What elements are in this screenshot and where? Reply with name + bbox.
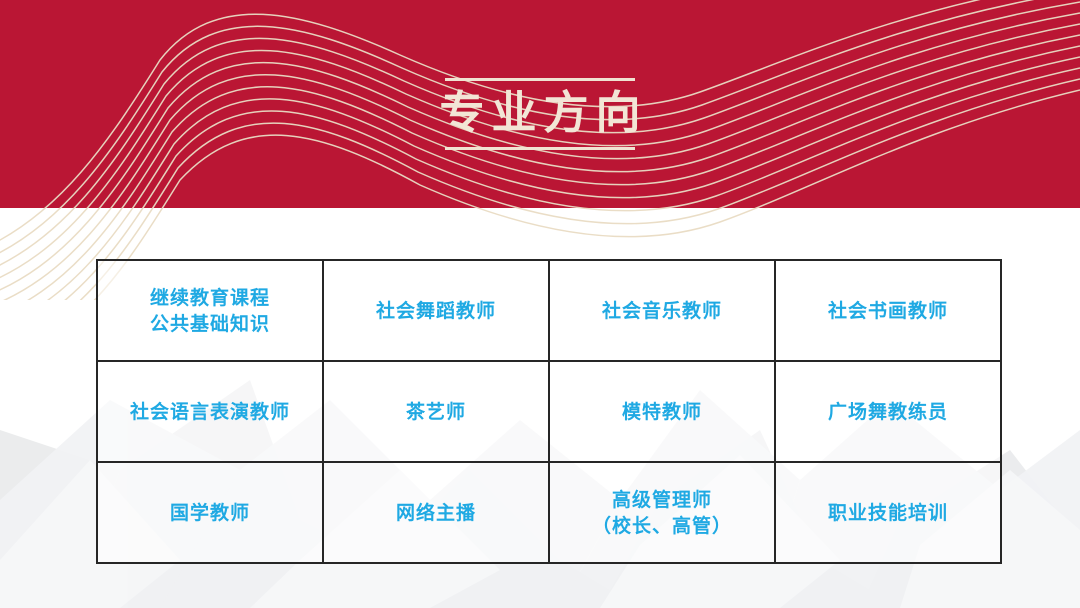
table-body: 继续教育课程 公共基础知识 社会舞蹈教师 社会音乐教师 社会书画教师 社会语言表… <box>97 260 1001 563</box>
title-rule-top <box>445 78 635 81</box>
table-row: 国学教师 网络主播 高级管理师 （校长、高管） 职业技能培训 <box>97 462 1001 563</box>
cell-label: 社会书画教师 <box>776 298 1000 324</box>
cell-label: 社会语言表演教师 <box>98 399 322 425</box>
table-row: 社会语言表演教师 茶艺师 模特教师 广场舞教练员 <box>97 361 1001 462</box>
cell-label: 网络主播 <box>324 500 548 526</box>
cell-label: 高级管理师 （校长、高管） <box>550 487 774 539</box>
cell-label: 职业技能培训 <box>776 500 1000 526</box>
cell-label: 广场舞教练员 <box>776 399 1000 425</box>
table-cell[interactable]: 职业技能培训 <box>775 462 1001 563</box>
specializations-table: 继续教育课程 公共基础知识 社会舞蹈教师 社会音乐教师 社会书画教师 社会语言表… <box>96 259 1002 564</box>
table-cell[interactable]: 社会舞蹈教师 <box>323 260 549 361</box>
table-cell[interactable]: 模特教师 <box>549 361 775 462</box>
slide-title-block: 专业方向 <box>0 78 1080 150</box>
table-cell[interactable]: 高级管理师 （校长、高管） <box>549 462 775 563</box>
slide-canvas: 专业方向 继续教育课程 公共基础知识 社会舞蹈教师 社会音乐教师 社会书画教师 … <box>0 0 1080 608</box>
cell-label: 社会音乐教师 <box>550 298 774 324</box>
table-cell[interactable]: 国学教师 <box>97 462 323 563</box>
cell-label: 社会舞蹈教师 <box>324 298 548 324</box>
cell-label: 茶艺师 <box>324 399 548 425</box>
cell-label: 模特教师 <box>550 399 774 425</box>
table-cell[interactable]: 网络主播 <box>323 462 549 563</box>
table-cell[interactable]: 社会书画教师 <box>775 260 1001 361</box>
cell-label: 继续教育课程 公共基础知识 <box>98 285 322 337</box>
page-title: 专业方向 <box>0 87 1080 139</box>
table-cell[interactable]: 社会音乐教师 <box>549 260 775 361</box>
table-cell[interactable]: 广场舞教练员 <box>775 361 1001 462</box>
table-cell[interactable]: 茶艺师 <box>323 361 549 462</box>
table-row: 继续教育课程 公共基础知识 社会舞蹈教师 社会音乐教师 社会书画教师 <box>97 260 1001 361</box>
title-rule-bottom <box>445 147 635 150</box>
cell-label: 国学教师 <box>98 500 322 526</box>
table-cell[interactable]: 社会语言表演教师 <box>97 361 323 462</box>
table-cell[interactable]: 继续教育课程 公共基础知识 <box>97 260 323 361</box>
